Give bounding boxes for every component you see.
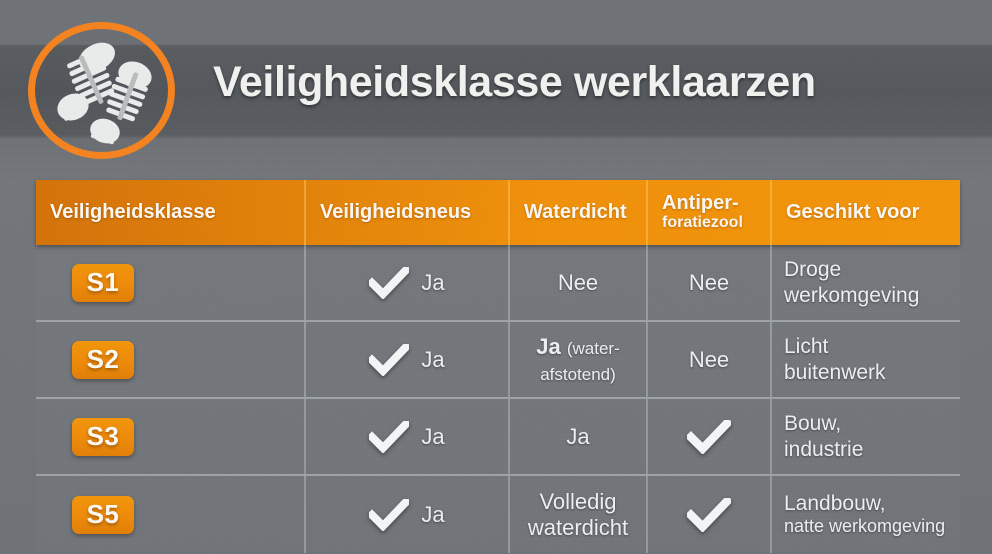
column-header-label: Waterdicht: [524, 202, 627, 223]
cell-geschikt-voor: Bouw, industrie: [772, 399, 960, 474]
cell-value: Ja: [421, 502, 444, 527]
cell-antiperforatiezool: [648, 399, 772, 474]
page-title: Veiligheidsklasse werklaarzen: [213, 58, 816, 107]
cell-veiligheidsneus: Ja: [306, 399, 510, 474]
column-header-antiperforatiezool: Antiper- foratiezool: [648, 180, 772, 245]
infographic-canvas: Veiligheidsklasse werklaarzen Veiligheid…: [0, 0, 992, 554]
cell-waterdicht: Volledigwaterdicht: [510, 476, 648, 553]
cell-antiperforatiezool: [648, 476, 772, 553]
status-badge: S1: [72, 264, 134, 302]
table-row: S3 Ja Ja Bouw,: [36, 399, 960, 476]
cell-value: Nee: [558, 270, 598, 295]
table-header-row: Veiligheidsklasse Veiligheidsneus Waterd…: [36, 180, 960, 245]
table-row: S5 Ja Volledigwaterdicht: [36, 476, 960, 553]
check-icon: [369, 499, 409, 531]
cell-veiligheidsneus: Ja: [306, 476, 510, 553]
cell-value-line2: natte werkomgeving: [784, 516, 945, 538]
check-icon: [687, 498, 731, 532]
status-badge: S3: [72, 418, 134, 456]
cell-geschikt-voor: Landbouw, natte werkomgeving: [772, 476, 960, 553]
cell-klasse: S2: [36, 322, 306, 397]
cell-value-line2: buitenwerk: [784, 360, 886, 385]
check-icon: [369, 344, 409, 376]
column-header-geschikt-voor: Geschikt voor: [772, 180, 960, 245]
cell-value-line1: Landbouw,: [784, 491, 945, 516]
cell-waterdicht: Ja: [510, 399, 648, 474]
column-header-label: Veiligheidsneus: [320, 202, 471, 223]
column-header-label: Geschikt voor: [786, 202, 919, 223]
cell-value: Ja: [421, 424, 444, 449]
cell-klasse: S5: [36, 476, 306, 553]
cell-antiperforatiezool: Nee: [648, 322, 772, 397]
cell-veiligheidsneus: Ja: [306, 245, 510, 320]
status-badge: S5: [72, 496, 134, 534]
cell-value: Ja: [566, 424, 589, 449]
status-badge: S2: [72, 341, 134, 379]
cell-antiperforatiezool: Nee: [648, 245, 772, 320]
cell-geschikt-voor: Droge werkomgeving: [772, 245, 960, 320]
cell-value-line2: werkomgeving: [784, 283, 919, 308]
column-header-waterdicht: Waterdicht: [510, 180, 648, 245]
cell-klasse: S1: [36, 245, 306, 320]
column-header-veiligheidsklasse: Veiligheidsklasse: [36, 180, 306, 245]
cell-value: Ja: [421, 270, 444, 295]
boot-print-icon: [28, 22, 175, 159]
cell-value: Ja: [536, 334, 560, 359]
cell-value: Nee: [689, 347, 729, 372]
check-icon: [687, 420, 731, 454]
cell-value: Volledigwaterdicht: [528, 489, 628, 540]
column-header-label: Veiligheidsklasse: [50, 202, 216, 223]
column-header-label: Antiper-: [662, 192, 739, 214]
cell-geschikt-voor: Licht buitenwerk: [772, 322, 960, 397]
table-row: S1 Ja Nee Nee Droge werkomgeving: [36, 245, 960, 322]
cell-waterdicht: Ja (water-afstotend): [510, 322, 648, 397]
table-row: S2 Ja Ja (water-afstotend) Nee: [36, 322, 960, 399]
column-header-sublabel: foratiezool: [662, 214, 743, 232]
check-icon: [369, 421, 409, 453]
cell-waterdicht: Nee: [510, 245, 648, 320]
cell-value-line1: Licht: [784, 334, 886, 359]
cell-value: Nee: [689, 270, 729, 295]
check-icon: [369, 267, 409, 299]
cell-value-line2: industrie: [784, 437, 863, 462]
cell-value-line1: Droge: [784, 257, 919, 282]
safety-class-table: Veiligheidsklasse Veiligheidsneus Waterd…: [36, 180, 960, 554]
column-header-veiligheidsneus: Veiligheidsneus: [306, 180, 510, 245]
cell-value-line1: Bouw,: [784, 411, 863, 436]
cell-klasse: S3: [36, 399, 306, 474]
cell-value: Ja: [421, 347, 444, 372]
cell-veiligheidsneus: Ja: [306, 322, 510, 397]
header-banner: Veiligheidsklasse werklaarzen: [0, 0, 992, 180]
